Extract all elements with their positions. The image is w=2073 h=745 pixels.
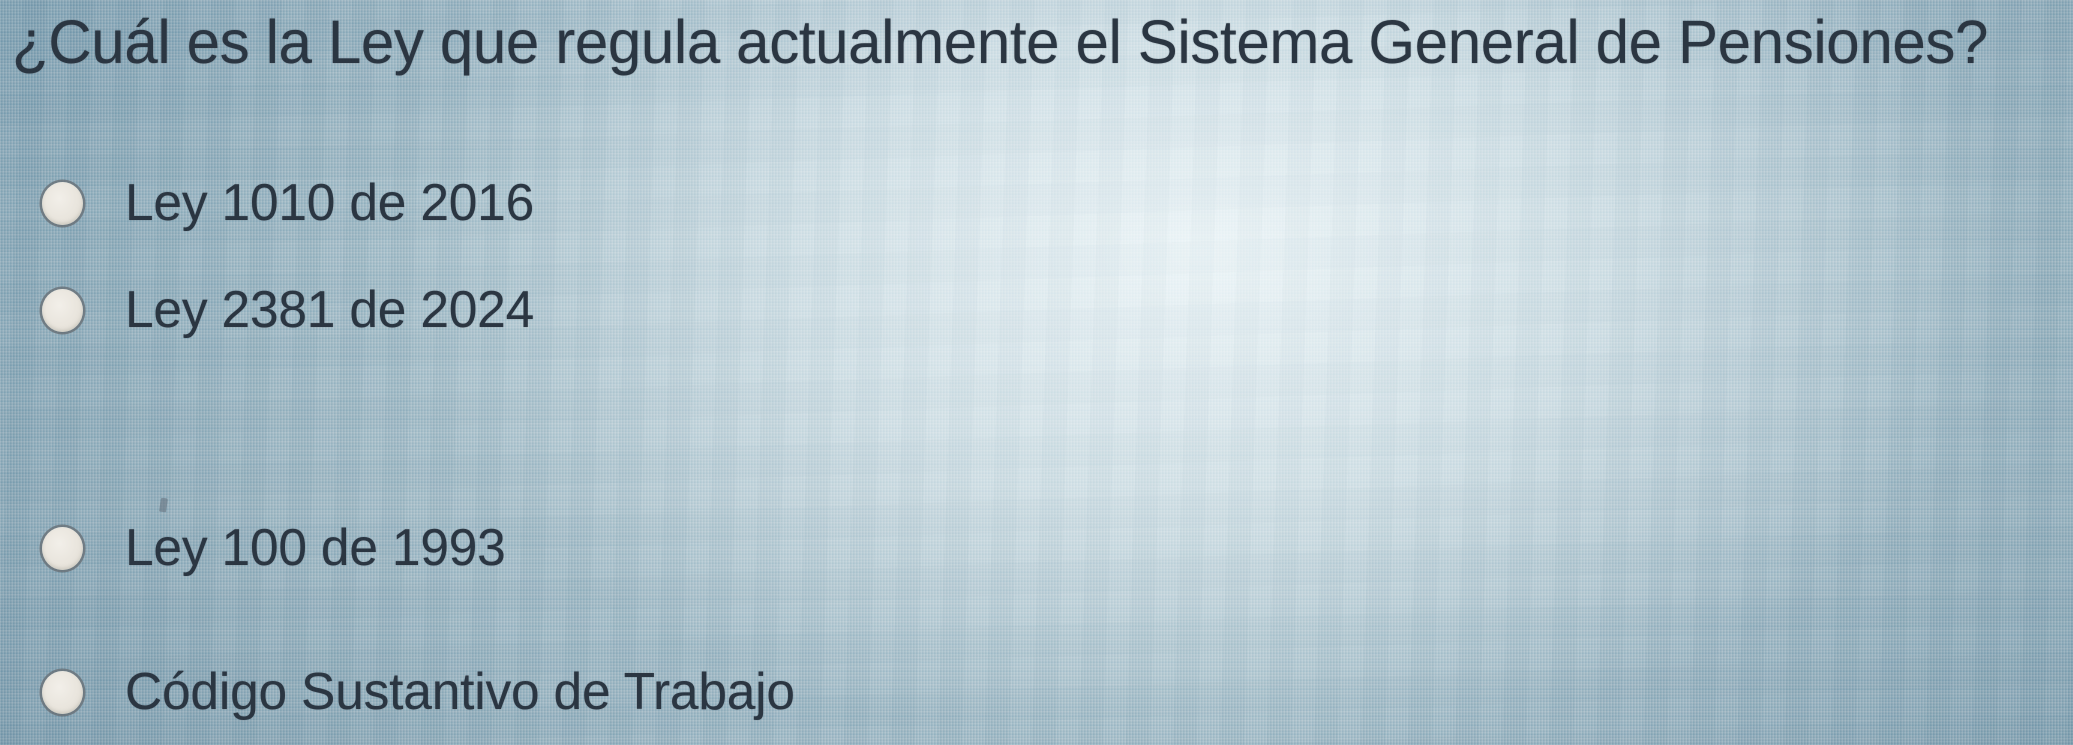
answer-option-4-label: Código Sustantivo de Trabajo xyxy=(125,662,795,722)
answer-option-4[interactable]: Código Sustantivo de Trabajo xyxy=(0,659,802,725)
radio-unchecked-icon[interactable] xyxy=(42,182,83,225)
answer-option-1[interactable]: Ley 1010 de 2016 xyxy=(0,170,538,236)
radio-unchecked-icon[interactable] xyxy=(42,289,83,332)
answer-option-1-label: Ley 1010 de 2016 xyxy=(125,173,534,233)
screen-speck-artifact xyxy=(159,498,168,513)
radio-unchecked-icon[interactable] xyxy=(42,671,83,714)
quiz-content: ¿Cuál es la Ley que regula actualmente e… xyxy=(0,0,2073,745)
radio-unchecked-icon[interactable] xyxy=(42,527,83,570)
answer-option-3-label: Ley 100 de 1993 xyxy=(125,518,506,578)
answer-option-2-label: Ley 2381 de 2024 xyxy=(125,280,534,340)
question-title: ¿Cuál es la Ley que regula actualmente e… xyxy=(12,5,2021,79)
quiz-screen: ¿Cuál es la Ley que regula actualmente e… xyxy=(0,0,2073,745)
answer-option-3[interactable]: Ley 100 de 1993 xyxy=(0,515,509,581)
answer-option-2[interactable]: Ley 2381 de 2024 xyxy=(0,277,538,343)
